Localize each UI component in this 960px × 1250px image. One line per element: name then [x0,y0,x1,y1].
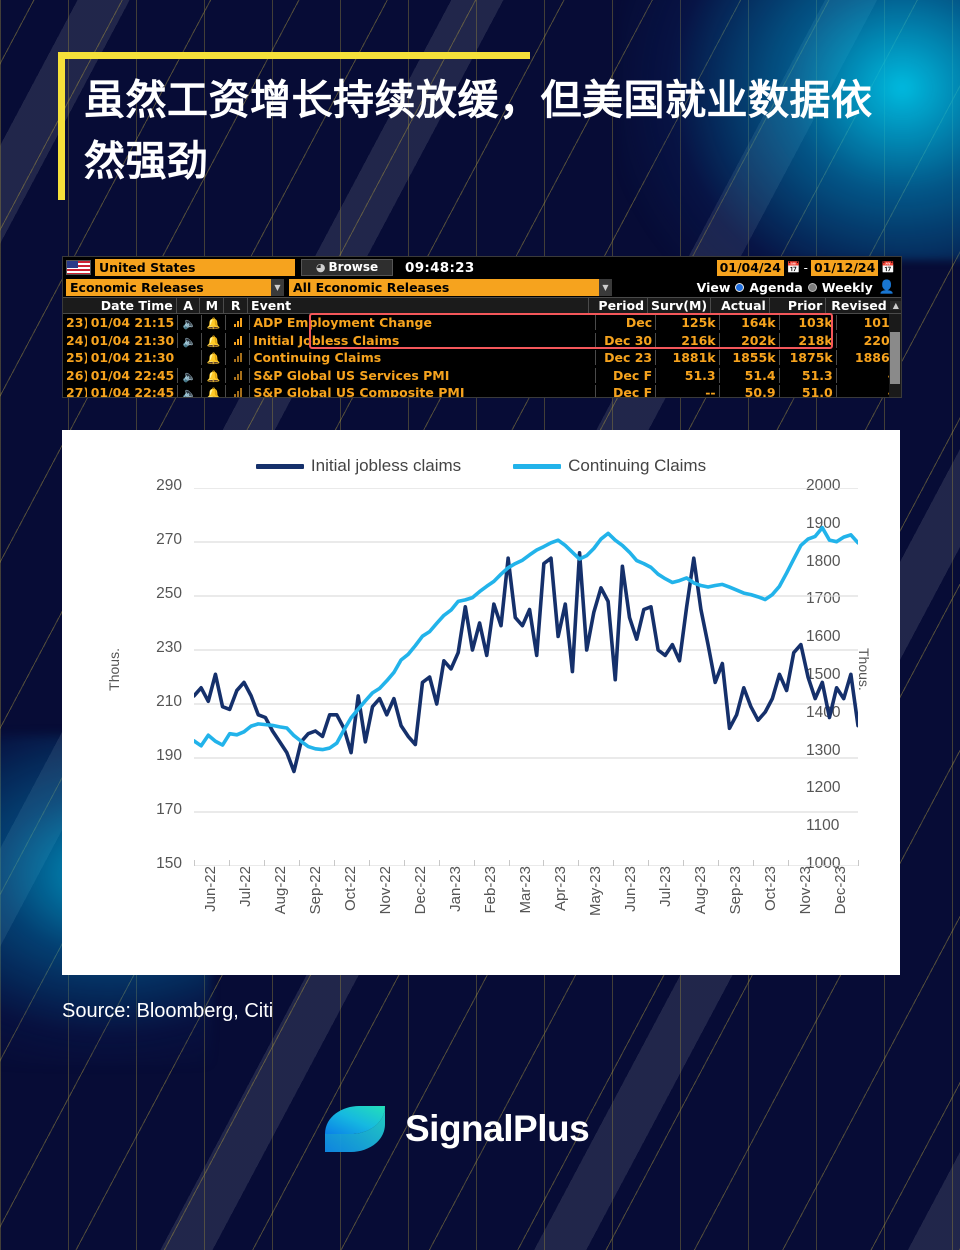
bell-icon[interactable]: 🔔 [207,387,221,398]
x-axis-labels: Jun-22Jul-22Aug-22Sep-22Oct-22Nov-22Dec-… [194,866,858,956]
row-mute-cell[interactable]: 🔔 [201,368,225,383]
radio-weekly-icon[interactable] [808,283,817,292]
poster-root: 虽然工资增长持续放缓，但美国就业数据依然强劲 United States ◕Br… [0,0,960,1250]
x-tick-mark [613,860,614,866]
series-line [194,553,858,772]
row-period: Dec 30 [595,333,655,348]
y-tick-left: 250 [128,585,182,603]
plot-area: Thous. Thous. 290270250230210190170150 2… [62,488,900,888]
x-tick-mark [194,860,195,866]
header-prior[interactable]: Prior [769,298,825,313]
x-tick-mark [823,860,824,866]
row-survey: 1881k [655,350,718,365]
x-tick-label: Oct-23 [762,866,779,911]
row-mute-cell[interactable]: 🔔 [201,385,225,398]
radio-agenda-icon[interactable] [735,283,744,292]
x-tick-label: Jun-22 [202,866,219,912]
brand-name: SignalPlus [405,1108,589,1150]
bell-icon[interactable]: 🔔 [207,317,221,330]
legend-label: Continuing Claims [568,456,706,476]
row-prior: 1875k [779,350,836,365]
x-tick-label: Jul-23 [657,866,674,907]
terminal-filter-row: Economic Releases▼ All Economic Releases… [63,277,901,297]
terminal-toolbar-row: United States ◕Browse 09:48:23 01/04/24 … [63,257,901,277]
row-period: Dec F [595,368,655,383]
x-tick-label: Aug-22 [272,866,289,914]
row-actual: 50.9 [719,385,779,398]
x-tick-mark [229,860,230,866]
headline-accent-left [58,52,65,200]
date-from-field[interactable]: 01/04/24 [717,260,784,276]
row-datetime: 01/04 21:30 [87,350,177,365]
us-flag-icon [66,260,91,275]
row-actual: 1855k [719,350,779,365]
row-event[interactable]: Initial Jobless Claims [249,333,595,348]
relevance-bars-icon [234,371,242,380]
x-tick-label: Jan-23 [447,866,464,912]
terminal-clock: 09:48:23 [405,260,475,276]
x-tick-label: Sep-23 [727,866,744,914]
browse-label: Browse [328,260,378,274]
x-tick-mark [578,860,579,866]
y-tick-left: 290 [128,477,182,495]
x-tick-mark [264,860,265,866]
row-event[interactable]: S&P Global US Services PMI [249,368,595,383]
header-revised[interactable]: Revised [825,298,889,313]
row-period: Dec F [595,385,655,398]
table-header-row: Date Time A M R Event Period Surv(M) Act… [63,297,901,314]
browse-button[interactable]: ◕Browse [301,259,393,276]
release-scope-select[interactable]: All Economic Releases [289,279,599,296]
row-prior: 218k [779,333,836,348]
row-event[interactable]: S&P Global US Composite PMI [249,385,595,398]
source-note: Source: Bloomberg, Citi [62,1000,273,1023]
row-survey: 51.3 [655,368,718,383]
chevron-down-icon-left[interactable]: ▼ [271,279,284,296]
x-tick-label: Sep-22 [307,866,324,914]
x-tick-mark [334,860,335,866]
row-relevance-cell [225,350,249,365]
x-tick-label: Jun-23 [622,866,639,912]
row-mute-cell[interactable]: 🔔 [201,315,225,330]
row-alert-cell[interactable]: 🔈 [177,385,201,398]
row-index: 24) [63,333,87,348]
legend-item: Continuing Claims [513,456,706,476]
header-alert[interactable]: A [176,298,200,313]
table-row[interactable]: 27)01/04 22:45🔈🔔S&P Global US Composite … [63,384,901,398]
row-datetime: 01/04 22:45 [87,368,177,383]
x-tick-label: Oct-22 [342,866,359,911]
row-period: Dec 23 [595,350,655,365]
x-tick-mark [439,860,440,866]
x-tick-label: Nov-22 [377,866,394,914]
x-tick-label: Feb-23 [482,866,499,914]
y-tick-left: 230 [128,639,182,657]
row-survey: 125k [655,315,718,330]
legend-swatch [513,464,561,469]
chart-svg [194,488,858,866]
x-tick-mark [369,860,370,866]
x-tick-mark [299,860,300,866]
x-tick-mark [509,860,510,866]
row-index: 27) [63,385,87,398]
x-tick-label: Aug-23 [692,866,709,914]
x-tick-mark [648,860,649,866]
row-event[interactable]: Continuing Claims [249,350,595,365]
view-option-agenda[interactable]: Agenda [749,280,802,295]
table-row[interactable]: 25)01/04 21:30🔔Continuing ClaimsDec 2318… [63,349,901,367]
bell-icon[interactable]: 🔔 [207,370,221,383]
row-relevance-cell [225,368,249,383]
y-tick-left: 190 [128,747,182,765]
row-relevance-cell [225,333,249,348]
bloomberg-terminal-panel: United States ◕Browse 09:48:23 01/04/24 … [62,256,902,398]
row-actual: 202k [719,333,779,348]
header-actual[interactable]: Actual [710,298,769,313]
header-mute[interactable]: M [199,298,223,313]
y-tick-left: 210 [128,693,182,711]
x-tick-label: Jul-22 [237,866,254,907]
x-tick-mark [543,860,544,866]
relevance-bars-icon [234,336,242,345]
row-actual: 164k [719,315,779,330]
x-tick-label: Dec-23 [832,866,849,914]
table-row[interactable]: 24)01/04 21:30🔈🔔Initial Jobless ClaimsDe… [63,332,901,350]
row-survey: 216k [655,333,718,348]
row-actual: 51.4 [719,368,779,383]
view-option-weekly[interactable]: Weekly [822,280,873,295]
x-tick-label: Dec-22 [412,866,429,914]
relevance-bars-icon [234,318,242,327]
x-tick-label: Mar-23 [517,866,534,914]
row-alert-cell[interactable]: 🔈 [177,333,201,348]
scroll-up-icon[interactable]: ▲ [890,301,901,310]
y-tick-left: 270 [128,531,182,549]
chart-panel: Initial jobless claimsContinuing Claims … [62,430,900,975]
relevance-bars-icon [234,388,242,397]
headline-accent-top [58,52,530,59]
view-label: View [697,280,731,295]
bell-icon[interactable]: 🔔 [207,335,221,348]
headline-block: 虽然工资增长持续放缓，但美国就业数据依然强劲 [58,52,908,191]
y-tick-left: 170 [128,801,182,819]
header-survey[interactable]: Surv(M) [647,298,710,313]
relevance-bars-icon [234,353,242,362]
date-range-separator: - [804,261,808,275]
signalplus-mark-icon [321,1100,389,1158]
row-event[interactable]: ADP Employment Change [249,315,595,330]
row-survey: -- [655,385,718,398]
speaker-icon[interactable]: 🔈 [183,387,197,398]
row-datetime: 01/04 21:30 [87,333,177,348]
legend-label: Initial jobless claims [311,456,461,476]
row-relevance-cell [225,315,249,330]
row-alert-cell[interactable]: 🔈 [177,315,201,330]
row-index: 23) [63,315,87,330]
row-relevance-cell [225,385,249,398]
browse-icon: ◕ [316,261,326,274]
bell-icon[interactable]: 🔔 [207,352,221,365]
legend-item: Initial jobless claims [256,456,461,476]
row-mute-cell[interactable]: 🔔 [201,333,225,348]
header-period[interactable]: Period [588,298,647,313]
table-scroll-thumb[interactable] [890,332,900,384]
row-prior: 103k [779,315,836,330]
brand-logo: SignalPlus [321,1100,589,1158]
y-axis-left-title: Thous. [106,648,122,691]
table-scrollbar[interactable] [889,314,901,398]
date-range-control[interactable]: 01/04/24 📅 - 01/12/24 📅 [717,260,899,276]
x-tick-label: Apr-23 [552,866,569,911]
x-tick-mark [858,860,859,866]
x-tick-mark [788,860,789,866]
row-index: 25) [63,350,87,365]
speaker-icon[interactable]: 🔈 [183,370,197,383]
x-tick-mark [474,860,475,866]
date-to-field[interactable]: 01/12/24 [811,260,878,276]
header-relevance[interactable]: R [223,298,247,313]
row-alert-cell[interactable]: 🔈 [177,368,201,383]
row-mute-cell[interactable]: 🔔 [201,350,225,365]
calendar-icon-to[interactable]: 📅 [881,261,895,274]
x-tick-label: Nov-23 [797,866,814,914]
chevron-down-icon-right[interactable]: ▼ [599,279,612,296]
x-tick-mark [683,860,684,866]
row-prior: 51.0 [779,385,836,398]
person-icon[interactable]: 👤 [879,280,895,295]
x-tick-mark [753,860,754,866]
speaker-icon[interactable]: 🔈 [183,317,197,330]
row-datetime: 01/04 21:15 [87,315,177,330]
chart-legend: Initial jobless claimsContinuing Claims [62,430,900,476]
release-type-select[interactable]: Economic Releases [66,279,271,296]
table-body: 23)01/04 21:15🔈🔔ADP Employment ChangeDec… [63,314,901,398]
x-tick-mark [718,860,719,866]
calendar-icon-from[interactable]: 📅 [787,261,801,274]
header-event[interactable]: Event [247,298,588,313]
country-field[interactable]: United States [95,259,295,276]
header-date-time[interactable]: Date Time [87,298,176,313]
row-prior: 51.3 [779,368,836,383]
series-line [194,528,858,750]
speaker-icon[interactable]: 🔈 [183,335,197,348]
y-tick-left: 150 [128,855,182,873]
row-period: Dec [595,315,655,330]
x-tick-label: May-23 [587,866,604,916]
view-options: View Agenda Weekly 👤 [697,280,899,295]
row-index: 26) [63,368,87,383]
table-row[interactable]: 26)01/04 22:45🔈🔔S&P Global US Services P… [63,367,901,385]
table-row[interactable]: 23)01/04 21:15🔈🔔ADP Employment ChangeDec… [63,314,901,332]
page-title: 虽然工资增长持续放缓，但美国就业数据依然强劲 [58,52,913,191]
row-datetime: 01/04 22:45 [87,385,177,398]
x-tick-mark [404,860,405,866]
legend-swatch [256,464,304,469]
